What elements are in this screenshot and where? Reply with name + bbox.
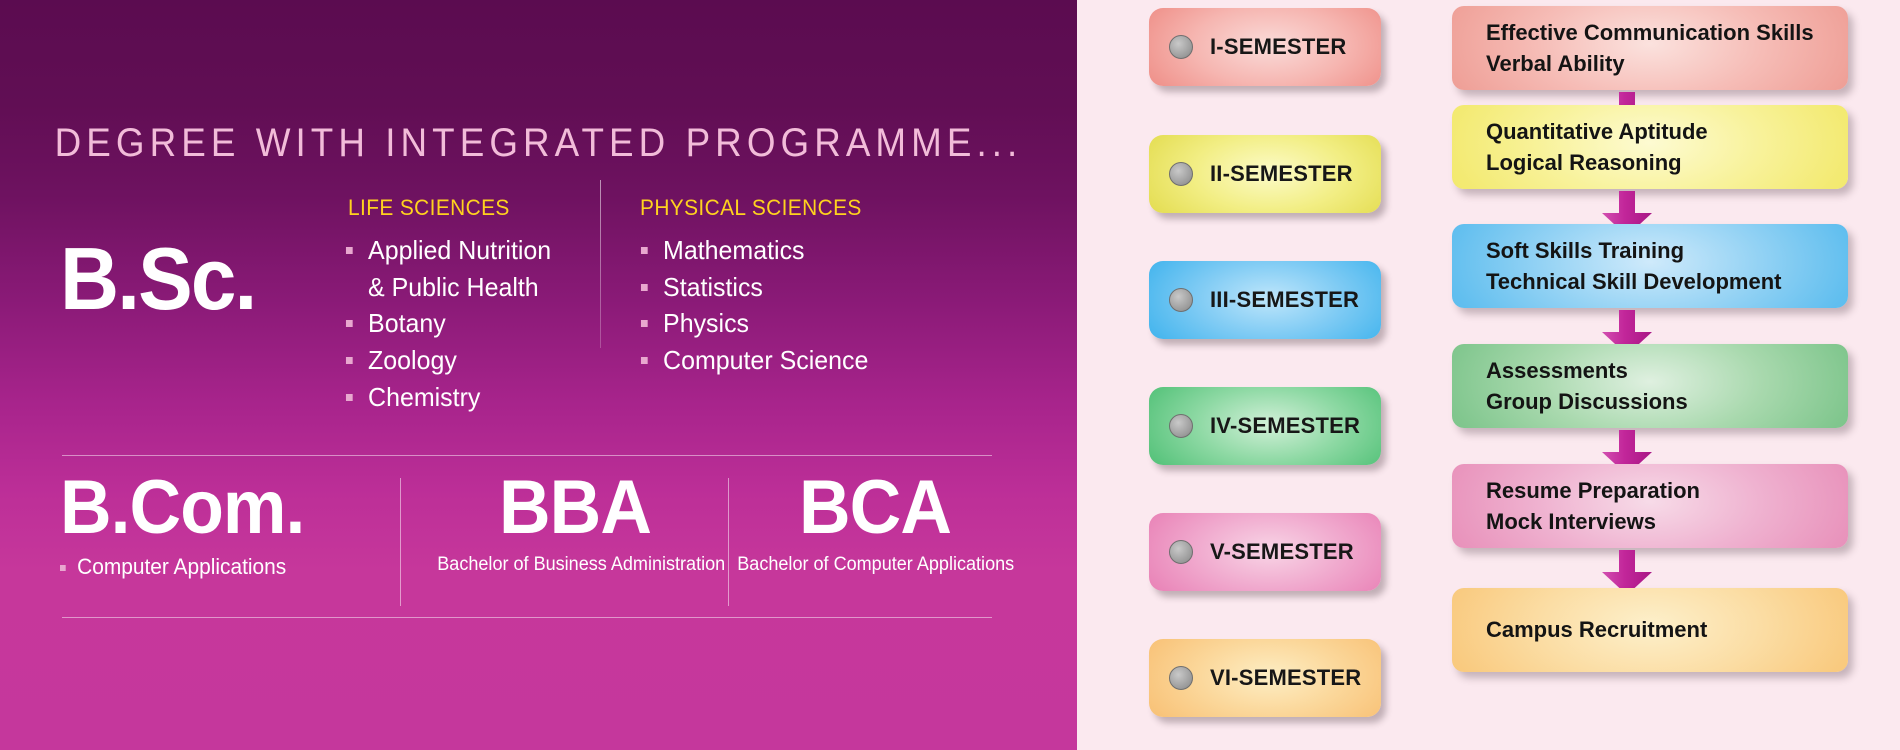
semester-label: III-SEMESTER: [1210, 287, 1359, 313]
task-line: Group Discussions: [1486, 386, 1848, 417]
list-item: Statistics: [640, 272, 890, 304]
list-item: & Public Health: [345, 272, 575, 304]
page-title: DEGREE WITH INTEGRATED PROGRAMME...: [43, 121, 1034, 166]
degree-name: BCA: [739, 470, 1012, 546]
task-line: Logical Reasoning: [1486, 147, 1848, 178]
physical-sciences-column: PHYSICAL SCIENCES Mathematics Statistics…: [640, 195, 900, 382]
life-sciences-column: LIFE SCIENCES Applied Nutrition & Public…: [345, 195, 585, 419]
task-box-1[interactable]: Effective Communication Skills Verbal Ab…: [1452, 6, 1848, 90]
task-box-6[interactable]: Campus Recruitment: [1452, 588, 1848, 672]
task-box-5[interactable]: Resume Preparation Mock Interviews: [1452, 464, 1848, 548]
task-box-4[interactable]: Assessments Group Discussions: [1452, 344, 1848, 428]
semester-pill-6[interactable]: VI-SEMESTER: [1149, 639, 1381, 717]
bullet-circle-icon: [1169, 162, 1193, 186]
semester-label: V-SEMESTER: [1210, 539, 1354, 565]
list-item: Botany: [345, 308, 575, 340]
degrees-divider-bottom: [62, 617, 992, 618]
list-item: Mathematics: [640, 235, 890, 267]
degree-subtitle: Computer Applications: [60, 554, 345, 580]
physical-sciences-list: Mathematics Statistics Physics Computer …: [640, 235, 900, 377]
task-line: Campus Recruitment: [1486, 614, 1848, 645]
degrees-section: B.Com. Computer Applications BBA Bachelo…: [0, 470, 1077, 620]
semester-label: I-SEMESTER: [1210, 34, 1346, 60]
degree-bcom: B.Com. Computer Applications: [60, 470, 360, 580]
degree-name: BBA: [439, 470, 712, 546]
semester-label: IV-SEMESTER: [1210, 413, 1360, 439]
bullet-circle-icon: [1169, 540, 1193, 564]
semester-pill-1[interactable]: I-SEMESTER: [1149, 8, 1381, 86]
task-line: Quantitative Aptitude: [1486, 116, 1848, 147]
semester-label: VI-SEMESTER: [1210, 665, 1361, 691]
list-item: Applied Nutrition: [345, 235, 575, 267]
degrees-divider-top: [62, 455, 992, 456]
bullet-circle-icon: [1169, 35, 1193, 59]
list-item: Physics: [640, 308, 890, 340]
task-line: Effective Communication Skills: [1486, 17, 1848, 48]
slide-root: DEGREE WITH INTEGRATED PROGRAMME... B.Sc…: [0, 0, 1900, 750]
bullet-circle-icon: [1169, 288, 1193, 312]
degree-bba: BBA Bachelor of Business Administration: [430, 470, 720, 576]
task-line: Soft Skills Training: [1486, 235, 1848, 266]
bsc-degree-name: B.Sc.: [60, 235, 255, 323]
task-line: Verbal Ability: [1486, 48, 1848, 79]
life-sciences-list: Applied Nutrition & Public Health Botany…: [345, 235, 585, 414]
list-item: Chemistry: [345, 382, 575, 414]
semester-pill-5[interactable]: V-SEMESTER: [1149, 513, 1381, 591]
bsc-section: B.Sc. LIFE SCIENCES Applied Nutrition & …: [0, 195, 1077, 445]
task-line: Mock Interviews: [1486, 506, 1848, 537]
semester-list: I-SEMESTER II-SEMESTER III-SEMESTER IV-S…: [1149, 0, 1384, 750]
list-item: Zoology: [345, 345, 575, 377]
semester-label: II-SEMESTER: [1210, 161, 1353, 187]
semester-pill-3[interactable]: III-SEMESTER: [1149, 261, 1381, 339]
degree-subtitle: Bachelor of Computer Applications: [737, 554, 1013, 576]
task-line: Technical Skill Development: [1486, 266, 1848, 297]
task-box-3[interactable]: Soft Skills Training Technical Skill Dev…: [1452, 224, 1848, 308]
task-box-2[interactable]: Quantitative Aptitude Logical Reasoning: [1452, 105, 1848, 189]
sciences-divider: [600, 180, 601, 348]
degree-divider-1: [400, 478, 401, 606]
semester-pill-4[interactable]: IV-SEMESTER: [1149, 387, 1381, 465]
list-item: Computer Science: [640, 345, 890, 377]
physical-sciences-heading: PHYSICAL SCIENCES: [640, 195, 887, 221]
degree-subtitle: Bachelor of Business Administration: [437, 554, 713, 576]
degree-divider-2: [728, 478, 729, 606]
bullet-circle-icon: [1169, 666, 1193, 690]
task-line: Assessments: [1486, 355, 1848, 386]
bullet-circle-icon: [1169, 414, 1193, 438]
right-panel-semester-roadmap: I-SEMESTER II-SEMESTER III-SEMESTER IV-S…: [1077, 0, 1900, 750]
degree-name: B.Com.: [60, 470, 342, 546]
degree-bca: BCA Bachelor of Computer Applications: [730, 470, 1020, 576]
task-flow-list: Effective Communication Skills Verbal Ab…: [1452, 0, 1852, 750]
task-line: Resume Preparation: [1486, 475, 1848, 506]
semester-pill-2[interactable]: II-SEMESTER: [1149, 135, 1381, 213]
life-sciences-heading: LIFE SCIENCES: [348, 195, 573, 221]
left-panel-degree-programmes: DEGREE WITH INTEGRATED PROGRAMME... B.Sc…: [0, 0, 1077, 750]
